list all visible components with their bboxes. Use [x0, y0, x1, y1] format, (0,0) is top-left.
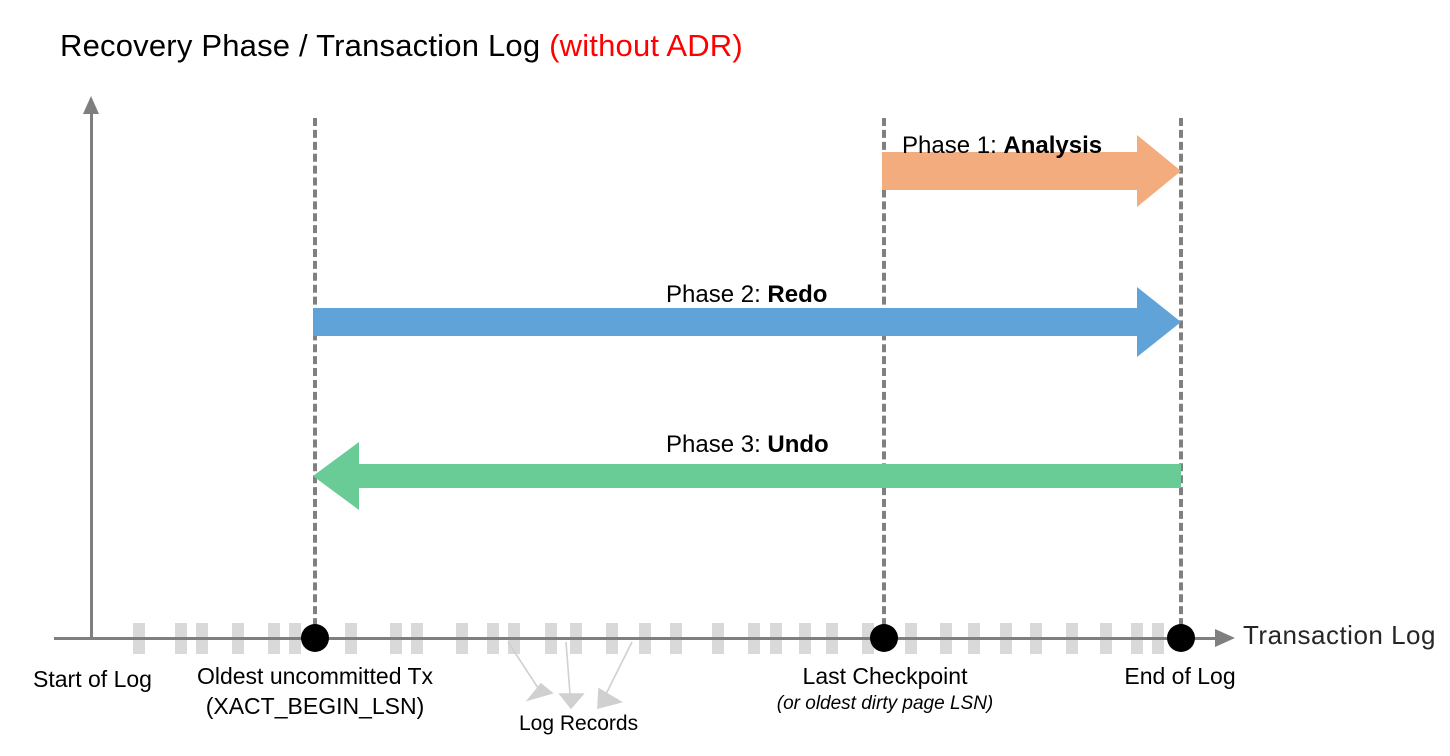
- y-axis-arrowhead-icon: [83, 96, 99, 114]
- phase2-name: Redo: [767, 281, 827, 308]
- caption-start-of-log-line1: Start of Log: [0, 664, 185, 694]
- phase3-undo-arrow: [313, 464, 1181, 488]
- caption-last-checkpoint-italic: (or oldest dirty page LSN): [760, 691, 1010, 716]
- caption-start-of-log: Start of Log: [0, 664, 185, 694]
- phase2-label: Phase 2: Redo: [666, 281, 827, 309]
- caption-last-checkpoint: Last Checkpoint (or oldest dirty page LS…: [760, 661, 1010, 716]
- caption-oldest-uncommitted-tx-line1: Oldest uncommitted Tx: [180, 661, 450, 691]
- caption-last-checkpoint-line1: Last Checkpoint: [760, 661, 1010, 691]
- marker-dot-last-checkpoint: [870, 624, 898, 652]
- title-accent: (without ADR): [549, 28, 743, 63]
- phase2-prefix: Phase 2:: [666, 281, 767, 308]
- phase3-label: Phase 3: Undo: [666, 431, 829, 459]
- phase3-name: Undo: [767, 431, 828, 458]
- diagram-canvas: Recovery Phase / Transaction Log (withou…: [0, 0, 1450, 756]
- x-axis-label: Transaction Log: [1243, 620, 1436, 651]
- log-records-label: Log Records: [519, 712, 638, 736]
- y-axis-line: [90, 112, 93, 639]
- marker-dot-end-of-log: [1167, 624, 1195, 652]
- phase3-prefix: Phase 3:: [666, 431, 767, 458]
- phase1-name: Analysis: [1003, 132, 1102, 159]
- phase1-prefix: Phase 1:: [902, 132, 1003, 159]
- caption-end-of-log-line1: End of Log: [1065, 661, 1295, 691]
- guide-line-oldest-uncommitted-tx: [313, 118, 317, 638]
- caption-end-of-log: End of Log: [1065, 661, 1295, 691]
- page-title: Recovery Phase / Transaction Log (withou…: [60, 27, 743, 65]
- log-records-pointer-arrows: [480, 636, 710, 716]
- caption-oldest-uncommitted-tx-line2: (XACT_BEGIN_LSN): [180, 691, 450, 721]
- marker-dot-oldest-uncommitted-tx: [301, 624, 329, 652]
- x-axis-arrowhead-icon: [1215, 629, 1235, 647]
- title-main: Recovery Phase / Transaction Log: [60, 28, 549, 63]
- phase1-label: Phase 1: Analysis: [902, 132, 1102, 160]
- phase2-redo-arrow: [313, 308, 1181, 336]
- caption-oldest-uncommitted-tx: Oldest uncommitted Tx (XACT_BEGIN_LSN): [180, 661, 450, 721]
- guide-line-last-checkpoint: [882, 118, 886, 638]
